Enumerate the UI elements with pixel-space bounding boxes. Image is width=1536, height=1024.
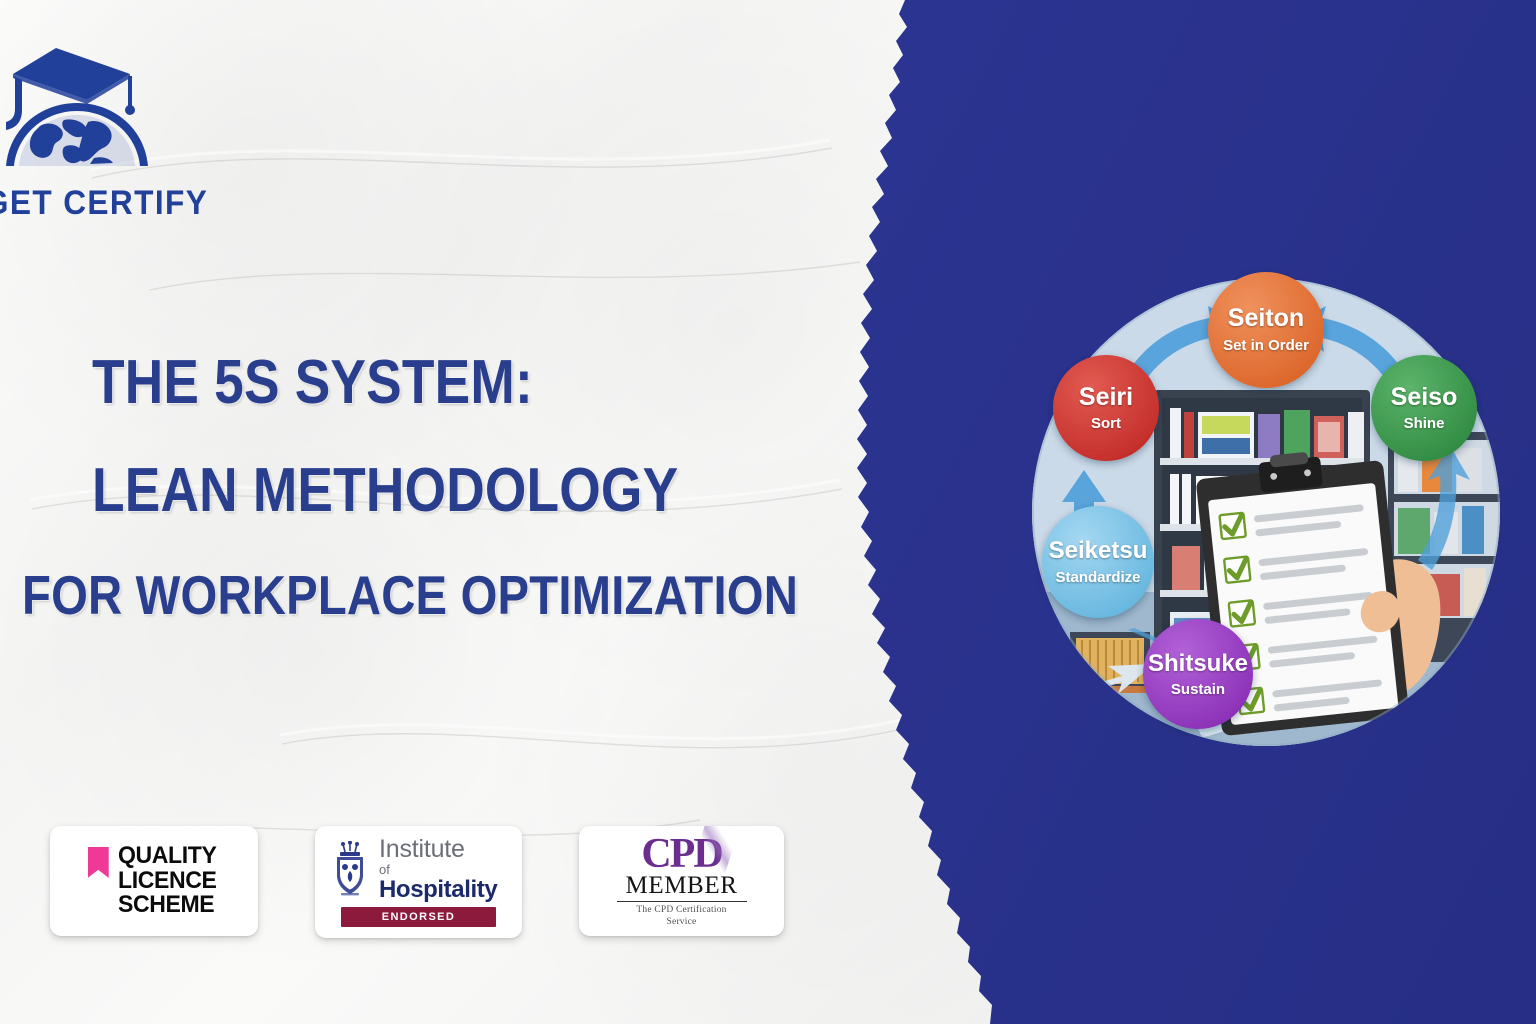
qls-line-3: SCHEME [118,893,216,918]
accreditation-badges: QUALITY LICENCE SCHEME [50,826,784,938]
ioh-endorsed-ribbon: ENDORSED [341,907,496,927]
seiso-en-label: Shine [1404,415,1445,432]
title-line-1: THE 5S SYSTEM: [92,352,685,414]
ioh-word-institute: Institute [379,837,508,862]
ioh-word-of: of [379,862,390,877]
course-banner: GET CERTIFY THE 5S SYSTEM: LEAN METHODOL… [0,0,1536,1024]
seiso-jp-label: Seiso [1391,383,1458,411]
cpd-acronym: CPD [641,833,721,875]
graduation-cap-globe-icon [6,48,148,166]
badge-institute-of-hospitality[interactable]: Institute of Hospitality ENDORSED [315,826,522,938]
seiketsu-en-label: Standardize [1055,569,1140,586]
cpd-sub-line-2: Service [636,917,726,929]
seiton-jp-label: Seiton [1228,304,1304,332]
page-title: THE 5S SYSTEM: LEAN METHODOLOGY FOR WORK… [22,352,782,623]
badge-quality-licence-scheme[interactable]: QUALITY LICENCE SCHEME [50,826,258,936]
badge-cpd-member[interactable]: CPD MEMBER The CPD Certification Service [579,826,784,936]
logo-wordmark: GET CERTIFY [0,183,208,221]
five-s-cycle-graphic: Seiton Set in Order Seiri Sort Seiso Shi… [1032,262,1500,762]
bookmark-icon [88,847,109,878]
ioh-word-hospitality: Hospitality [379,876,497,903]
cpd-divider [617,901,747,902]
title-line-3: FOR WORKPLACE OPTIMIZATION [22,568,676,623]
brand-logo[interactable]: GET CERTIFY [0,18,212,243]
seiri-jp-label: Seiri [1079,383,1133,411]
crest-icon [329,841,371,899]
seiketsu-jp-label: Seiketsu [1049,537,1148,564]
title-line-2: LEAN METHODOLOGY [92,460,685,522]
cpd-sub-line-1: The CPD Certification [636,905,726,917]
qls-line-1: QUALITY [118,844,216,869]
shitsuke-en-label: Sustain [1171,681,1225,698]
seiri-en-label: Sort [1091,415,1121,432]
shitsuke-jp-label: Shitsuke [1148,650,1248,677]
seiton-en-label: Set in Order [1223,337,1309,354]
qls-line-2: LICENCE [118,869,216,894]
